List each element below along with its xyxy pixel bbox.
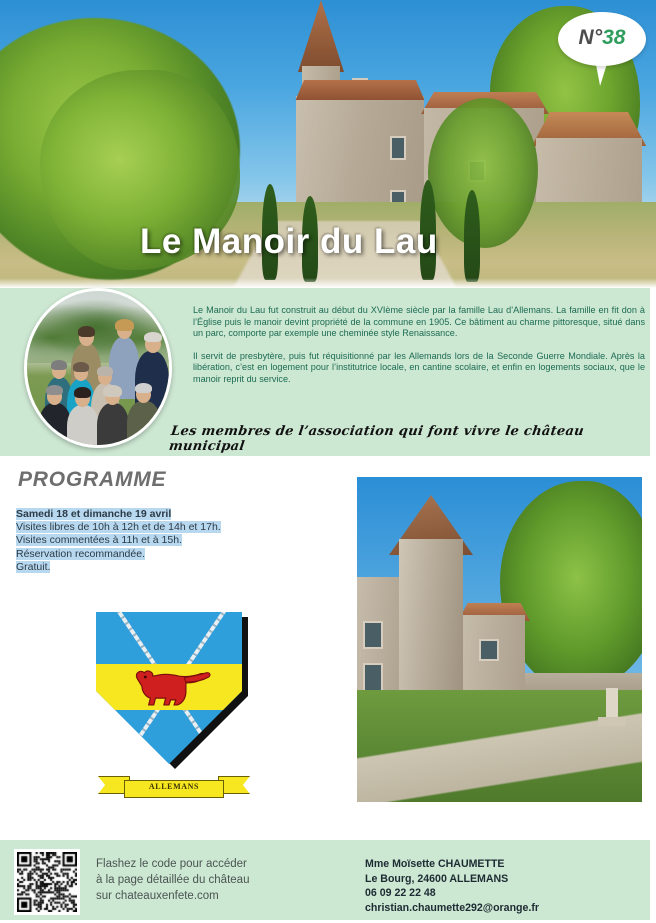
person-hair <box>103 385 122 397</box>
badge-text: N°38 <box>558 26 646 50</box>
shield-field <box>96 612 242 764</box>
person-hair <box>135 383 152 393</box>
photo2-statue <box>606 688 618 718</box>
footer-instruction: Flashez le code pour accéder à la page d… <box>96 856 316 904</box>
issue-number-badge: N°38 <box>558 12 646 88</box>
badge-number: 38 <box>602 26 625 49</box>
chateau-photo <box>357 477 642 802</box>
photo2-window-2 <box>365 665 381 691</box>
intro-paragraph-1: Le Manoir du Lau fut construit au début … <box>193 305 645 340</box>
window-1 <box>392 138 404 158</box>
photo-caption: Les membres de l’association qui font vi… <box>168 424 656 454</box>
person-hair <box>74 387 91 398</box>
page-title: Le Manoir du Lau <box>140 222 438 262</box>
contact-address: Le Bourg, 24600 ALLEMANS <box>365 872 635 887</box>
programme-line: Visites libres de 10h à 12h et de 14h et… <box>16 521 316 534</box>
hero-bottom-fade <box>0 278 656 288</box>
contact-name: Mme Moïsette CHAUMETTE <box>365 857 635 872</box>
photo2-window-3 <box>481 641 497 659</box>
programme-line: Visites commentées à 11h et à 15h. <box>16 534 316 547</box>
cypress-4 <box>464 190 480 282</box>
badge-prefix: N° <box>579 26 603 49</box>
shield <box>96 612 248 768</box>
intro-text: Le Manoir du Lau fut construit au début … <box>193 305 645 386</box>
contact-email[interactable]: christian.chaumette292@orange.fr <box>365 901 635 916</box>
person <box>67 405 99 448</box>
programme-line: Samedi 18 et dimanche 19 avril <box>16 508 316 521</box>
person-hair <box>97 366 113 376</box>
lion-icon <box>126 666 212 710</box>
programme-title: PROGRAMME <box>18 468 166 492</box>
footer-contact: Mme Moïsette CHAUMETTE Le Bourg, 24600 A… <box>365 857 635 915</box>
person-hair <box>78 326 95 337</box>
programme-line: Gratuit. <box>16 561 316 574</box>
name-banner: ALLEMANS <box>98 772 250 806</box>
programme-line: Réservation recommandée. <box>16 548 316 561</box>
person <box>127 401 161 448</box>
coat-of-arms: ALLEMANS <box>96 612 256 808</box>
person-hair <box>115 319 134 331</box>
tower-roof <box>298 0 344 72</box>
association-members-photo <box>24 288 172 448</box>
person-hair <box>144 332 162 342</box>
photo2-window-1 <box>365 623 381 647</box>
person-hair <box>73 362 89 372</box>
tree-right-2 <box>428 98 538 248</box>
qr-code[interactable] <box>14 849 80 915</box>
footer-instruction-line-1: Flashez le code pour accéder <box>96 856 316 872</box>
poster-page: Le Manoir du Lau N°38 <box>0 0 656 923</box>
person-hair <box>51 360 67 370</box>
footer-instruction-line-2: à la page détaillée du château <box>96 872 316 888</box>
person-hair <box>46 385 63 395</box>
photo2-tower <box>399 539 463 699</box>
person <box>97 403 129 448</box>
banner-label: ALLEMANS <box>124 782 224 791</box>
footer-instruction-line-3: sur chateauxenfete.com <box>96 888 316 904</box>
contact-phone[interactable]: 06 09 22 22 48 <box>365 886 635 901</box>
intro-paragraph-2: Il servit de presbytère, puis fut réquis… <box>193 351 645 386</box>
programme-list: Samedi 18 et dimanche 19 avril Visites l… <box>16 508 316 574</box>
